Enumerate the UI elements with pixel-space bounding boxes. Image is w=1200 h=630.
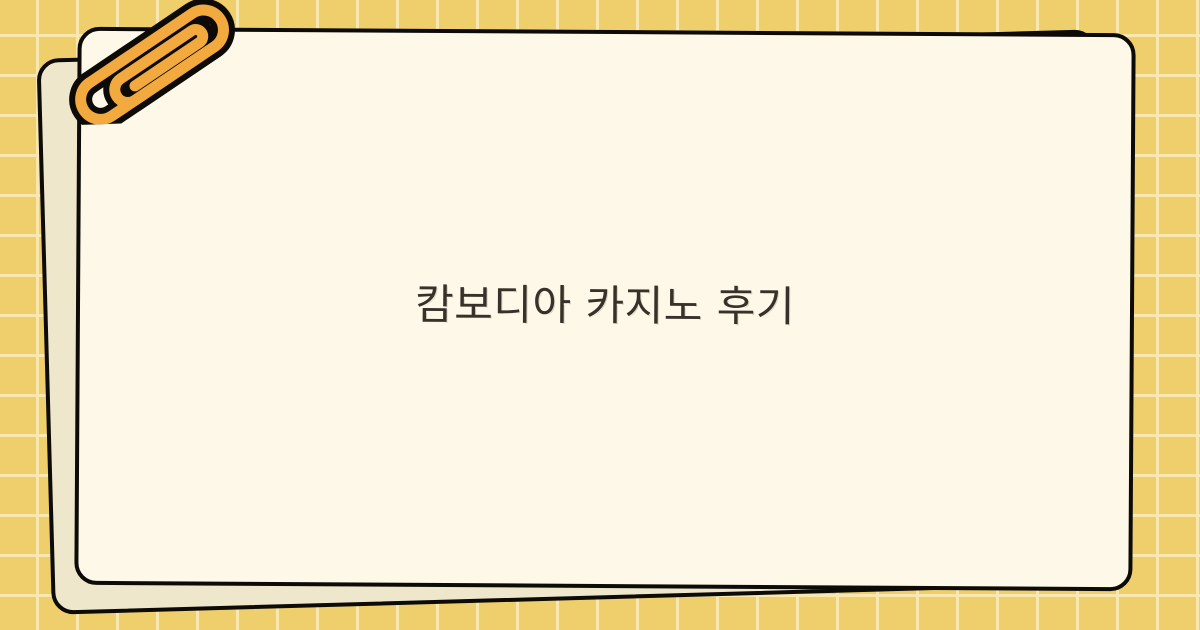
page-title: 캄보디아 카지노 후기 bbox=[415, 278, 795, 335]
graphic-canvas: 캄보디아 카지노 후기 bbox=[0, 0, 1200, 630]
paperclip-icon bbox=[60, 0, 264, 125]
paperclip-decoration bbox=[60, 0, 264, 125]
